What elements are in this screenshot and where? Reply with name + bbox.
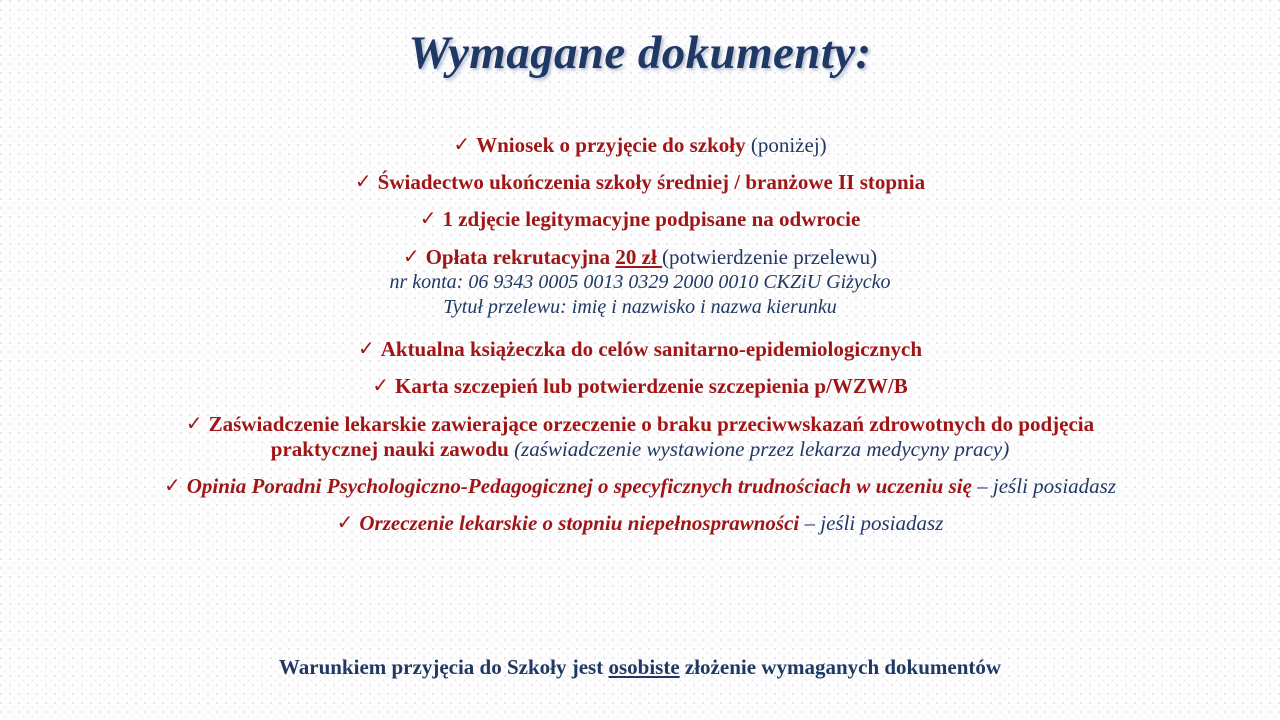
list-item-label: Karta szczepień lub potwierdzenie szczep…: [395, 374, 908, 398]
footer-part-2: złożenie wymaganych dokumentów: [680, 655, 1001, 679]
check-icon: ✓: [372, 374, 395, 398]
list-item-note: – jeśli posiadasz: [805, 511, 944, 535]
check-icon: ✓: [164, 474, 187, 498]
list-item: ✓Karta szczepień lub potwierdzenie szcze…: [50, 374, 1230, 399]
list-item-label: Opłata rekrutacyjna: [426, 245, 616, 269]
list-item-label: Orzeczenie lekarskie o stopniu niepełnos…: [359, 511, 804, 535]
list-item: ✓Aktualna książeczka do celów sanitarno-…: [50, 337, 1230, 362]
list-item-label: Zaświadczenie lekarskie zawierające orze…: [209, 412, 1095, 436]
check-icon: ✓: [453, 133, 476, 157]
list-item-label: Świadectwo ukończenia szkoły średniej / …: [378, 170, 925, 194]
footer-part-1: Warunkiem przyjęcia do Szkoły jest: [279, 655, 609, 679]
list-item-label: 1 zdjęcie legitymacyjne podpisane na odw…: [442, 207, 860, 231]
check-icon: ✓: [337, 511, 360, 535]
check-icon: ✓: [403, 245, 426, 269]
footer-emphasis: osobiste: [608, 655, 679, 679]
list-item-label: Aktualna książeczka do celów sanitarno-e…: [381, 337, 922, 361]
list-item-label-cont: praktycznej nauki zawodu: [271, 437, 514, 461]
list-item-note: – jeśli posiadasz: [977, 474, 1116, 498]
list-item: ✓Świadectwo ukończenia szkoły średniej /…: [50, 170, 1230, 195]
check-icon: ✓: [420, 207, 443, 231]
list-item-note: (poniżej): [751, 133, 827, 157]
list-item: ✓Opłata rekrutacyjna 20 zł (potwierdzeni…: [50, 245, 1230, 321]
list-item: ✓Wniosek o przyjęcie do szkoły (poniżej): [50, 133, 1230, 158]
list-item-note: (zaświadczenie wystawione przez lekarza …: [514, 437, 1009, 461]
slide-root: Wymagane dokumenty: ✓Wniosek o przyjęcie…: [0, 0, 1280, 720]
list-item: ✓Opinia Poradni Psychologiczno-Pedagogic…: [50, 474, 1230, 499]
list-item-label: Wniosek o przyjęcie do szkoły: [476, 133, 745, 157]
list-item-note: (potwierdzenie przelewu): [662, 245, 877, 269]
transfer-title-line: Tytuł przelewu: imię i nazwisko i nazwa …: [50, 295, 1230, 320]
list-item: ✓1 zdjęcie legitymacyjne podpisane na od…: [50, 207, 1230, 232]
list-item: ✓Zaświadczenie lekarskie zawierające orz…: [50, 412, 1230, 462]
check-icon: ✓: [355, 170, 378, 194]
check-icon: ✓: [358, 337, 381, 361]
fee-amount: 20 zł: [615, 245, 662, 269]
list-item-label: Opinia Poradni Psychologiczno-Pedagogicz…: [187, 474, 977, 498]
required-documents-list: ✓Wniosek o przyjęcie do szkoły (poniżej)…: [50, 133, 1230, 548]
page-title: Wymagane dokumenty:: [0, 28, 1280, 79]
footer-note: Warunkiem przyjęcia do Szkoły jest osobi…: [0, 655, 1280, 680]
list-item: ✓Orzeczenie lekarskie o stopniu niepełno…: [50, 511, 1230, 536]
bank-account-line: nr konta: 06 9343 0005 0013 0329 2000 00…: [50, 270, 1230, 295]
check-icon: ✓: [186, 412, 209, 436]
